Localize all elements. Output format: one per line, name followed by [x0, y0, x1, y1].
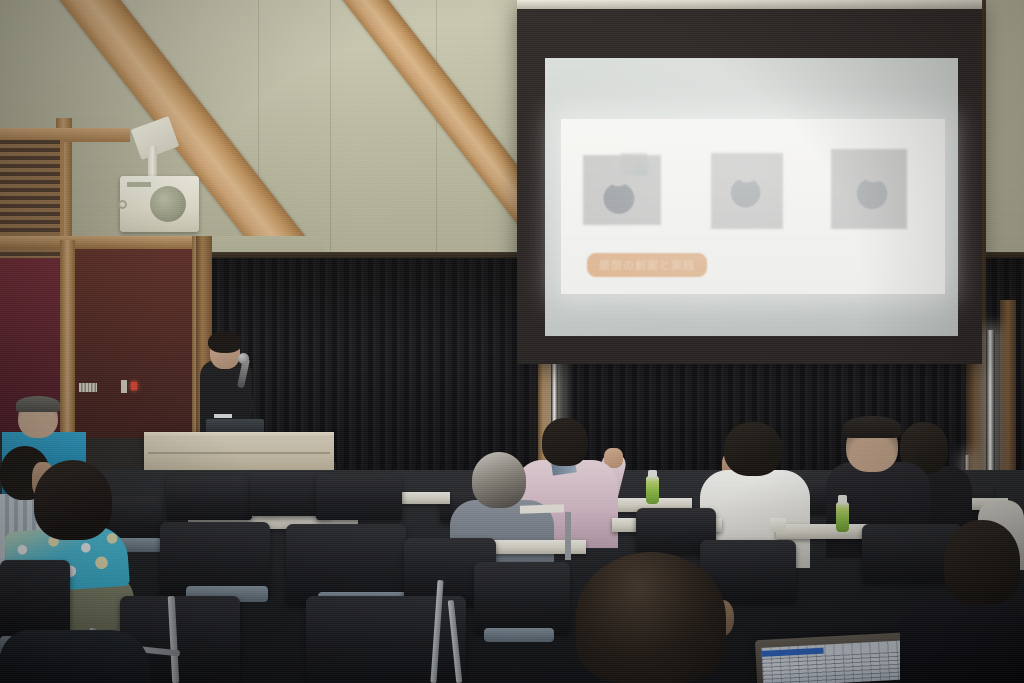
audience-person-hair — [16, 396, 60, 412]
green-tea-bottle — [836, 502, 849, 532]
chair-back — [0, 560, 70, 640]
conference-hall-photo: 原型の創案と実践 — [0, 0, 1024, 683]
chair-seat — [484, 628, 554, 642]
fire-alarm-indicator-icon — [131, 382, 137, 390]
audience-person-head — [472, 452, 526, 508]
ac-fan-grille-icon — [150, 186, 186, 222]
slide-caption: 原型の創案と実践 — [587, 253, 707, 277]
slide-photo-center — [711, 153, 783, 229]
podium-top-edge — [144, 432, 334, 438]
presenter-hair — [208, 331, 242, 353]
audience-person-head — [944, 520, 1020, 604]
ac-hook-icon — [118, 200, 127, 209]
chair-back — [160, 522, 270, 596]
wall-switch-plate[interactable] — [79, 383, 97, 392]
panel-frame — [60, 240, 75, 440]
ac-brand-label — [127, 182, 151, 187]
papers-on-table — [520, 504, 564, 514]
microphone-head-icon — [238, 353, 249, 364]
louver-vent — [0, 140, 64, 270]
presentation-slide: 原型の創案と実践 — [561, 119, 945, 294]
chair-back — [306, 596, 466, 683]
wall-panel-maroon — [74, 248, 194, 438]
bottle-cap — [838, 495, 847, 502]
audience-person-head — [34, 460, 112, 540]
chair-back — [474, 562, 570, 632]
audience-person-head — [542, 418, 588, 466]
chair-back — [166, 476, 252, 520]
ac-support-pole — [148, 146, 157, 180]
audience-laptop-screen — [761, 640, 911, 683]
audience-person-head — [576, 552, 726, 683]
fire-alarm-box[interactable] — [121, 380, 127, 393]
podium-groove — [148, 452, 330, 454]
slide-photo-left-inset — [621, 153, 647, 175]
green-tea-bottle — [646, 476, 659, 504]
screen-roller-housing — [517, 0, 982, 9]
slide-photo-right — [831, 149, 907, 229]
audience-person-head — [724, 422, 782, 476]
panel-frame — [0, 236, 205, 249]
audience-person-hair — [843, 416, 901, 438]
presenter-laptop-screen — [214, 414, 232, 418]
audience-laptop[interactable] — [755, 632, 917, 683]
audience-person-torso — [0, 630, 150, 683]
table-leg — [565, 512, 571, 560]
audience-person-torso — [900, 596, 1024, 683]
paper-cup — [770, 518, 786, 532]
chair-back — [316, 474, 402, 520]
